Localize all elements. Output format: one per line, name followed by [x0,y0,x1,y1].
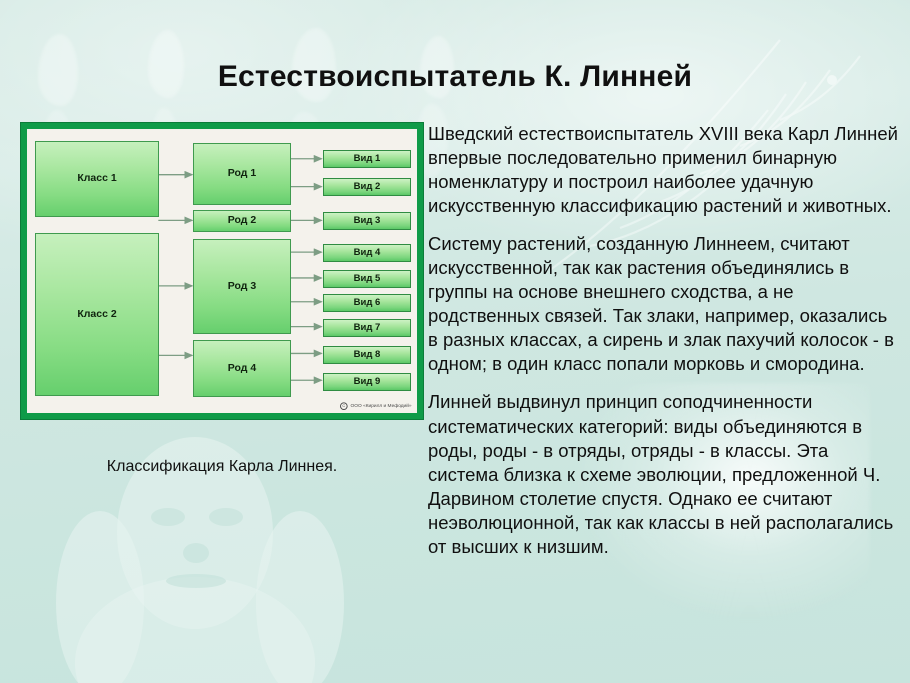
node-species-1[interactable]: Вид 1 [323,150,411,168]
background-ape-watermark [0,413,500,683]
node-label: Род 4 [228,363,256,375]
node-genus-3[interactable]: Род 3 [193,239,291,334]
node-label: Класс 2 [77,309,116,321]
copyright-icon: C [340,402,348,410]
node-class-1[interactable]: Класс 1 [35,141,159,217]
paragraph-1: Шведский естествоиспытатель XVIII века К… [428,122,900,218]
node-label: Вид 9 [354,377,381,387]
body-text: Шведский естествоиспытатель XVIII века К… [428,122,900,559]
diagram-caption: Классификация Карла Линнея. [20,458,424,476]
node-species-9[interactable]: Вид 9 [323,373,411,391]
node-label: Вид 8 [354,350,381,360]
node-class-2[interactable]: Класс 2 [35,233,159,396]
node-label: Вид 6 [354,298,381,308]
node-label: Род 1 [228,168,256,180]
node-label: Вид 1 [354,154,381,164]
node-species-7[interactable]: Вид 7 [323,319,411,337]
classification-diagram: Класс 1 Класс 2 Род 1 Род 2 Род 3 Род 4 … [20,122,424,420]
paragraph-2: Систему растений, созданную Линнеем, счи… [428,232,900,376]
node-label: Вид 3 [354,216,381,226]
node-species-5[interactable]: Вид 5 [323,270,411,288]
diagram-inner-panel: Класс 1 Класс 2 Род 1 Род 2 Род 3 Род 4 … [27,129,417,413]
copyright-stamp: C ООО «Кирилл и Мефодий» [340,402,412,410]
node-species-8[interactable]: Вид 8 [323,346,411,364]
node-label: Вид 7 [354,323,381,333]
node-species-6[interactable]: Вид 6 [323,294,411,312]
node-label: Вид 2 [354,182,381,192]
node-label: Вид 5 [354,274,381,284]
node-genus-2[interactable]: Род 2 [193,210,291,232]
node-species-2[interactable]: Вид 2 [323,178,411,196]
node-species-4[interactable]: Вид 4 [323,244,411,262]
node-species-3[interactable]: Вид 3 [323,212,411,230]
page-title: Естествоиспытатель К. Линней [0,60,910,94]
node-label: Род 2 [228,215,256,227]
node-label: Род 3 [228,281,256,293]
slide-canvas: Естествоиспытатель К. Линней [0,0,910,683]
node-label: Вид 4 [354,248,381,258]
node-label: Класс 1 [77,173,116,185]
paragraph-3: Линней выдвинул принцип соподчиненности … [428,390,900,558]
node-genus-4[interactable]: Род 4 [193,340,291,397]
node-genus-1[interactable]: Род 1 [193,143,291,205]
copyright-text: ООО «Кирилл и Мефодий» [351,403,412,409]
